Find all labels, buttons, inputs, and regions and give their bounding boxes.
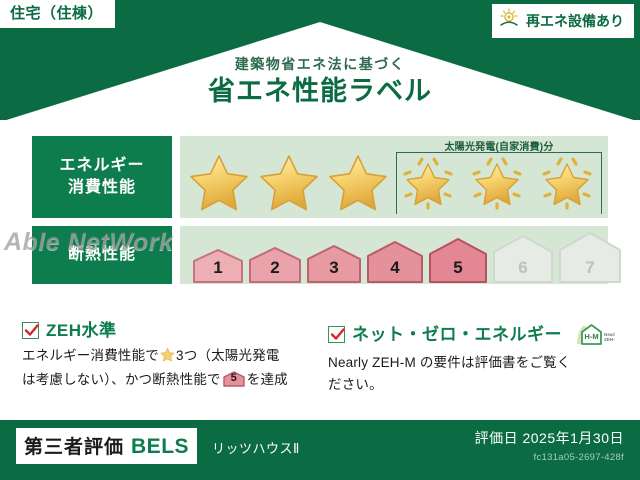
zeh-desc-part4: を達成 bbox=[247, 372, 288, 387]
grade-house-6: 6 bbox=[492, 234, 554, 284]
grade-number-6: 6 bbox=[492, 258, 554, 278]
label-title-block: 建築物省エネ法に基づく 省エネ性能ラベル bbox=[0, 56, 640, 109]
insulation-performance-row: 断熱性能 1 2 3 bbox=[32, 226, 608, 284]
insulation-grades-panel: 1 2 3 4 bbox=[180, 226, 608, 284]
bels-jp-label: 第三者評価 bbox=[24, 432, 124, 459]
grade-badge-number: 5 bbox=[223, 369, 245, 387]
grade-house-2: 2 bbox=[248, 246, 302, 284]
nze-desc-line1: Nearly ZEH-M の要件は評価書をご覧く bbox=[328, 355, 571, 370]
zeh-desc-part1: エネルギー消費性能で bbox=[22, 348, 159, 363]
energy-performance-row: エネルギー 消費性能 太陽光発電(自家消費)分 bbox=[32, 136, 608, 218]
energy-performance-label: 住宅（住棟） 再エネ設備あり 建築物省エネ法に基づく 省エネ性能ラベル bbox=[0, 0, 640, 480]
insulation-performance-label: 断熱性能 bbox=[32, 226, 172, 284]
svg-text:H-M: H-M bbox=[584, 332, 598, 341]
energy-stars-panel: 太陽光発電(自家消費)分 bbox=[180, 136, 608, 218]
grade-number-2: 2 bbox=[248, 258, 302, 278]
grade-house-1: 1 bbox=[192, 248, 244, 284]
bels-en-label: BELS bbox=[131, 435, 189, 459]
zeh-title: ZEH水準 bbox=[46, 322, 117, 339]
energy-star-rating bbox=[188, 150, 598, 214]
star-icon-solar-2 bbox=[466, 152, 528, 212]
evaluation-date: 評価日 2025年1月30日 bbox=[475, 428, 624, 448]
zeh-description: エネルギー消費性能で3つ（太陽光発電は考慮しない）、かつ断熱性能で5を達成 bbox=[22, 345, 298, 392]
evaluation-meta: 評価日 2025年1月30日 fc131a05-2697-428f bbox=[475, 428, 624, 463]
grade-badge-inline: 5 bbox=[223, 371, 245, 387]
document-id: fc131a05-2697-428f bbox=[475, 452, 624, 463]
svg-text:ZEH-M: ZEH-M bbox=[604, 337, 615, 342]
energy-label-line2: 消費性能 bbox=[68, 177, 136, 199]
star-icon-filled-3 bbox=[327, 152, 389, 212]
renewable-badge-label: 再エネ設備あり bbox=[526, 14, 624, 28]
grade-number-7: 7 bbox=[558, 258, 622, 278]
star-icon-inline bbox=[160, 347, 175, 369]
star-icon-filled-1 bbox=[188, 152, 250, 212]
label-main-title: 省エネ性能ラベル bbox=[0, 75, 640, 109]
label-footer: 第三者評価 BELS リッツハウスⅡ 評価日 2025年1月30日 fc131a… bbox=[0, 420, 640, 480]
grade-house-3: 3 bbox=[306, 244, 362, 284]
zeh-m-logo-icon: H-M Nearly ZEH-M bbox=[575, 322, 615, 346]
grade-house-7: 7 bbox=[558, 231, 622, 284]
star-icon-solar-1 bbox=[397, 152, 459, 212]
insulation-grade-scale: 1 2 3 4 bbox=[192, 226, 596, 284]
zeh-desc-part2: 3つ（太陽光発電 bbox=[176, 348, 280, 363]
grade-number-4: 4 bbox=[366, 258, 424, 278]
grade-house-4: 4 bbox=[366, 240, 424, 284]
bels-chip: 第三者評価 BELS bbox=[16, 428, 197, 464]
nze-title: ネット・ゼロ・エネルギー bbox=[352, 326, 562, 343]
building-name: リッツハウスⅡ bbox=[212, 438, 300, 457]
performance-block: エネルギー 消費性能 太陽光発電(自家消費)分 bbox=[32, 136, 608, 284]
nze-description: Nearly ZEH-M の要件は評価書をご覧ください。 bbox=[328, 352, 618, 397]
insulation-label-text: 断熱性能 bbox=[68, 244, 136, 266]
zeh-criteria-column: ZEH水準 エネルギー消費性能で3つ（太陽光発電は考慮しない）、かつ断熱性能で5… bbox=[0, 322, 320, 397]
grade-number-3: 3 bbox=[306, 258, 362, 278]
grade-number-5: 5 bbox=[428, 258, 488, 278]
building-type-chip: 住宅（住棟） bbox=[0, 0, 115, 28]
grade-number-1: 1 bbox=[192, 258, 244, 278]
building-type-label: 住宅（住棟） bbox=[10, 6, 103, 21]
nze-heading: ネット・ゼロ・エネルギー H-M Nearly ZEH-M bbox=[328, 322, 618, 346]
zeh-desc-part3: は考慮しない）、かつ断熱性能で bbox=[22, 372, 221, 387]
energy-performance-label: エネルギー 消費性能 bbox=[32, 136, 172, 218]
nze-checkbox-checked-icon bbox=[328, 326, 345, 343]
solar-sun-icon bbox=[498, 8, 520, 33]
zeh-heading: ZEH水準 bbox=[22, 322, 298, 339]
nze-criteria-column: ネット・ゼロ・エネルギー H-M Nearly ZEH-M Nearly ZEH… bbox=[320, 322, 640, 397]
zeh-checkbox-checked-icon bbox=[22, 322, 39, 339]
energy-label-line1: エネルギー bbox=[59, 155, 144, 177]
nze-desc-line2: ださい。 bbox=[328, 377, 383, 392]
label-subtitle: 建築物省エネ法に基づく bbox=[0, 56, 640, 73]
criteria-section: ZEH水準 エネルギー消費性能で3つ（太陽光発電は考慮しない）、かつ断熱性能で5… bbox=[0, 322, 640, 397]
star-icon-solar-3 bbox=[536, 152, 598, 212]
renewable-equipment-badge: 再エネ設備あり bbox=[492, 4, 634, 38]
grade-house-5: 5 bbox=[428, 237, 488, 284]
star-icon-filled-2 bbox=[258, 152, 320, 212]
